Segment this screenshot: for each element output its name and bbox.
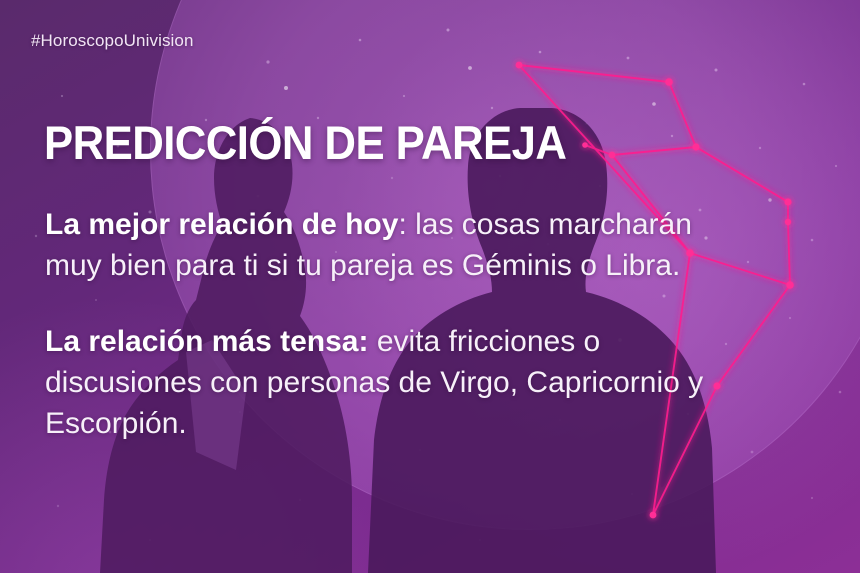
paragraph-best-match-separator: : [398, 208, 415, 241]
paragraph-best-match-lead: La mejor relación de hoy [45, 208, 398, 241]
paragraph-best-match: La mejor relación de hoy: las cosas marc… [45, 204, 725, 286]
paragraph-tense-match-separator [368, 325, 376, 358]
paragraph-tense-match-lead: La relación más tensa: [45, 325, 368, 358]
hashtag-label: #HoroscopoUnivision [31, 31, 194, 51]
page-title: PREDICCIÓN DE PAREJA [44, 119, 566, 166]
paragraph-tense-match: La relación más tensa: evita fricciones … [45, 321, 725, 444]
body-copy: La mejor relación de hoy: las cosas marc… [45, 204, 725, 444]
horoscope-card: #HoroscopoUnivision PREDICCIÓN DE PAREJA… [0, 0, 860, 573]
